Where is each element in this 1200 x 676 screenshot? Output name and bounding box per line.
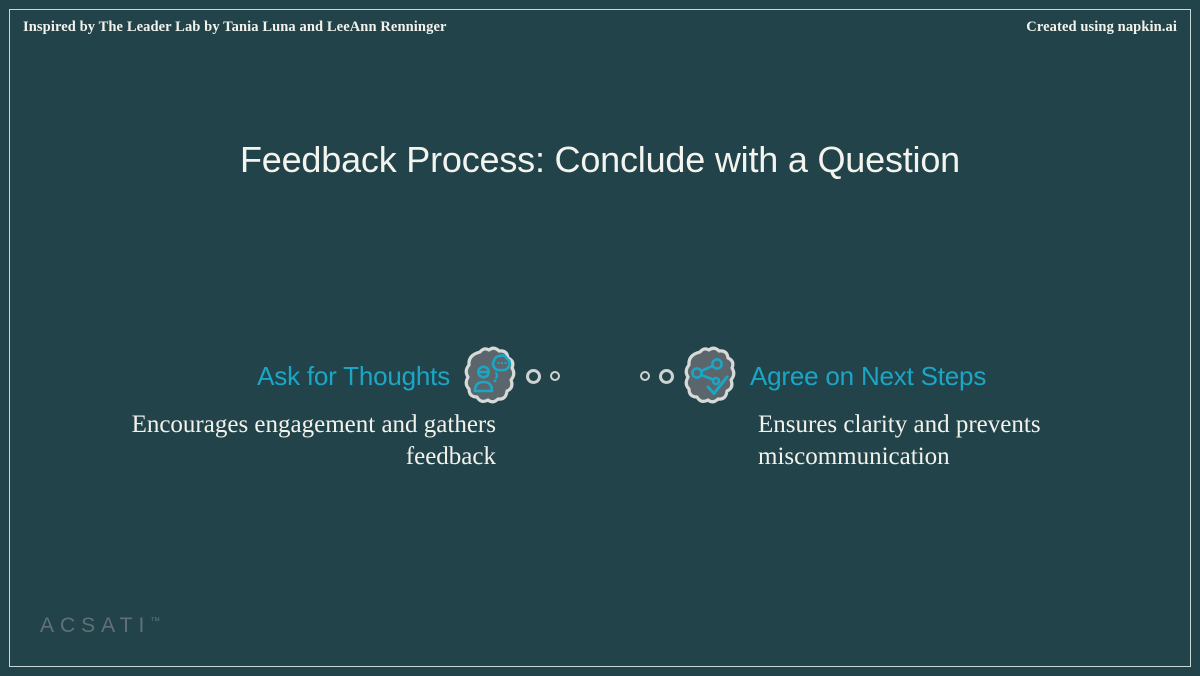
header-credit-left: Inspired by The Leader Lab by Tania Luna… [23,19,447,36]
diagram-node-ask-for-thoughts[interactable]: Ask for Thoughts [60,345,560,473]
node-description-ask-for-thoughts: Encourages engagement and gathers feedba… [60,409,560,473]
slide-canvas: Inspired by The Leader Lab by Tania Luna… [0,0,1200,676]
connector-dots-left [526,369,560,384]
connector-dots-right [640,369,674,384]
connector-dot-small [550,371,560,381]
connector-dot-large [659,369,674,384]
watermark-text: ACSATI [40,614,150,637]
watermark-acsati: ACSATI™ [40,614,160,638]
watermark-trademark-symbol: ™ [150,616,160,627]
slide-border-frame [9,9,1191,667]
header-bar: Inspired by The Leader Lab by Tania Luna… [9,9,1191,45]
diagram-node-agree-on-next-steps[interactable]: Agree on Next Steps Ensures clarity and … [640,345,1140,473]
diagram-area: Ask for Thoughts [0,345,1200,525]
connector-dot-large [526,369,541,384]
node-title-agree-on-next-steps: Agree on Next Steps [750,361,986,392]
node-title-ask-for-thoughts: Ask for Thoughts [257,361,450,392]
person-thought-bubble-icon [462,346,518,406]
share-nodes-check-icon [682,346,738,406]
connector-dot-small [640,371,650,381]
node-description-agree-on-next-steps: Ensures clarity and prevents miscommunic… [640,409,1140,473]
node-header-row: Agree on Next Steps [640,345,1140,407]
page-title: Feedback Process: Conclude with a Questi… [0,138,1200,181]
header-credit-right: Created using napkin.ai [1026,19,1177,36]
node-header-row: Ask for Thoughts [60,345,560,407]
